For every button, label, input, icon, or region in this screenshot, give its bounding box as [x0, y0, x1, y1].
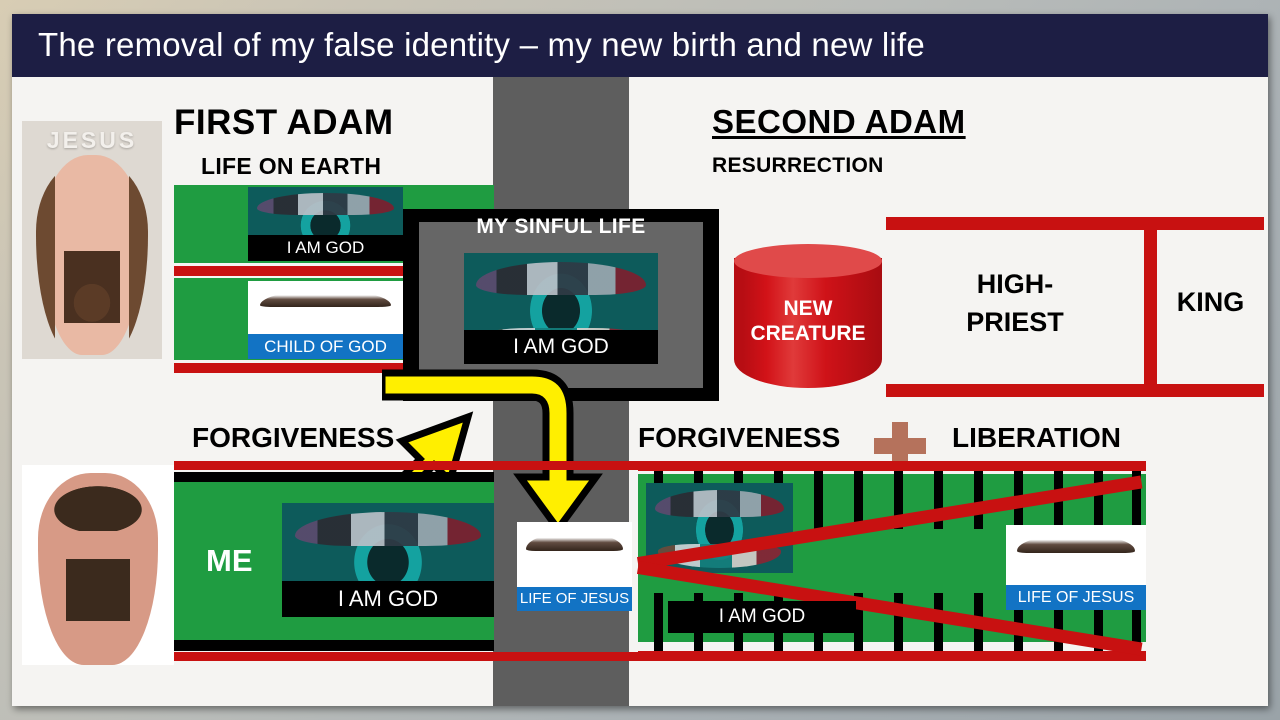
- me-bar-bottom-black: [174, 640, 494, 651]
- me-bar-top-black: [174, 472, 494, 482]
- me-label: ME: [206, 543, 253, 579]
- cross-band-red-bottom: [493, 652, 639, 661]
- eye-caption: I AM GOD: [282, 581, 494, 617]
- frame-bottom-bar: [886, 384, 1264, 397]
- prison-bar: [1094, 471, 1103, 529]
- eye-caption: I AM GOD: [248, 235, 403, 261]
- prison-bar: [814, 471, 823, 529]
- eye-caption: LIFE OF JESUS: [1006, 585, 1146, 610]
- eye-tile-life-of-jesus-center: LIFE OF JESUS: [517, 522, 632, 611]
- eye-tile-life-of-jesus-right: LIFE OF JESUS: [1006, 525, 1146, 610]
- jesus-portrait-card: JESUS: [22, 121, 162, 359]
- jesus-label: JESUS: [22, 127, 162, 154]
- me-bar-top-red: [174, 461, 494, 470]
- slide: The removal of my false identity – my ne…: [12, 14, 1268, 706]
- eye-caption: LIFE OF JESUS: [517, 587, 632, 611]
- prison-eye-caption: I AM GOD: [668, 601, 856, 633]
- prison-bar: [654, 593, 663, 651]
- king-label: KING: [1157, 287, 1264, 318]
- prison-bar: [974, 471, 983, 529]
- prison-bottom-red: [638, 651, 1146, 661]
- eye-tile-sinful-i-am-god: I AM GOD: [464, 253, 658, 364]
- slide-title-bar: The removal of my false identity – my ne…: [12, 14, 1268, 77]
- priest-king-frame: HIGH-PRIEST KING: [886, 217, 1264, 397]
- new-creature-line1: NEW: [784, 297, 833, 320]
- me-bar-bottom-red: [174, 652, 494, 661]
- heading-first-adam: FIRST ADAM: [174, 103, 394, 143]
- eye-tile-me-i-am-god: I AM GOD: [282, 503, 494, 617]
- me-portrait-card: [22, 465, 174, 665]
- cylinder-top-ellipse: [734, 244, 882, 278]
- me-face-photo: [38, 473, 158, 665]
- forgiveness-label-right: FORGIVENESS: [638, 422, 840, 454]
- me-identity-bar: ME I AM GOD: [174, 461, 494, 661]
- cross-band-red-top: [493, 461, 639, 470]
- high-priest-label: HIGH-PRIEST: [886, 265, 1144, 341]
- frame-top-bar: [886, 217, 1264, 230]
- page-title: The removal of my false identity – my ne…: [38, 26, 925, 64]
- new-creature-cylinder: NEW CREATURE: [734, 244, 882, 402]
- eye-tile-i-am-god-top: I AM GOD: [248, 187, 403, 261]
- eye-tile-child-of-god: CHILD OF GOD: [248, 281, 403, 359]
- jesus-face-illustration: [42, 155, 142, 355]
- prison-top-red: [638, 461, 1146, 471]
- liberation-prison-bar: I AM GOD LIFE OF JESUS: [638, 461, 1146, 661]
- subheading-resurrection: RESURRECTION: [712, 154, 884, 178]
- liberation-label: LIBERATION: [952, 422, 1121, 454]
- eye-caption: CHILD OF GOD: [248, 334, 403, 359]
- heading-second-adam: SECOND ADAM: [712, 103, 966, 141]
- forgiveness-label-left: FORGIVENESS: [192, 422, 394, 454]
- my-sinful-life-title: MY SINFUL LIFE: [403, 215, 719, 239]
- slide-canvas: FIRST ADAM LIFE ON EARTH SECOND ADAM RES…: [12, 77, 1268, 706]
- new-creature-label: NEW CREATURE: [734, 296, 882, 346]
- subheading-life-on-earth: LIFE ON EARTH: [201, 153, 381, 180]
- new-creature-line2: CREATURE: [750, 322, 865, 345]
- frame-divider: [1144, 217, 1157, 397]
